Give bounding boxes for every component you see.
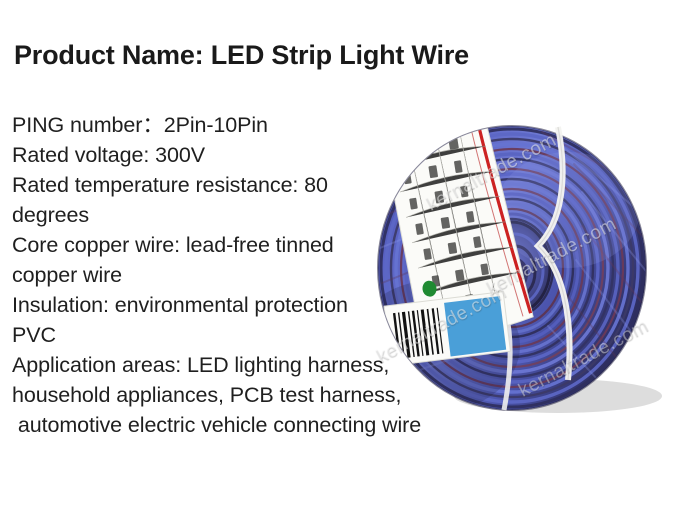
spec-line: Application areas: LED lighting harness, <box>12 350 482 380</box>
spec-line: degrees <box>12 200 482 230</box>
spec-list: PING number：2Pin-10Pin Rated voltage: 30… <box>12 110 482 440</box>
product-info-image: kernaltrade.com kernaltrade.com kernaltr… <box>0 0 700 507</box>
spec-line: automotive electric vehicle connecting w… <box>12 410 482 440</box>
spec-line: PVC <box>12 320 482 350</box>
spec-line: household appliances, PCB test harness, <box>12 380 482 410</box>
spec-line: Insulation: environmental protection <box>12 290 482 320</box>
page-title: Product Name: LED Strip Light Wire <box>14 40 469 71</box>
spec-line: PING number：2Pin-10Pin <box>12 110 482 140</box>
spec-line: Core copper wire: lead-free tinned <box>12 230 482 260</box>
spec-line: Rated temperature resistance: 80 <box>12 170 482 200</box>
spec-line: Rated voltage: 300V <box>12 140 482 170</box>
spec-line: copper wire <box>12 260 482 290</box>
